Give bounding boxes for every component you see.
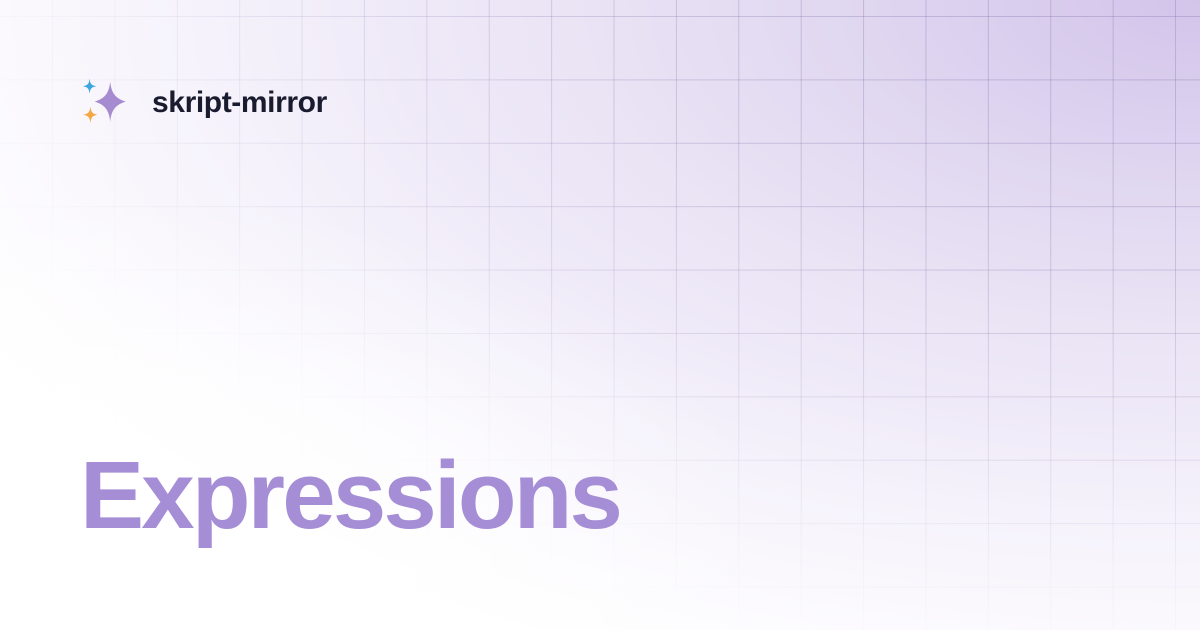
- sparkle-orange-star: [83, 106, 98, 123]
- page-title: Expressions: [80, 448, 620, 544]
- brand-name: skript-mirror: [152, 88, 327, 118]
- brand-lockup: skript-mirror: [80, 76, 327, 130]
- sparkle-main-star: [95, 82, 126, 122]
- sparkle-blue-star: [83, 79, 97, 94]
- sparkles-icon: [80, 76, 134, 130]
- og-card: skript-mirror Expressions: [0, 0, 1200, 630]
